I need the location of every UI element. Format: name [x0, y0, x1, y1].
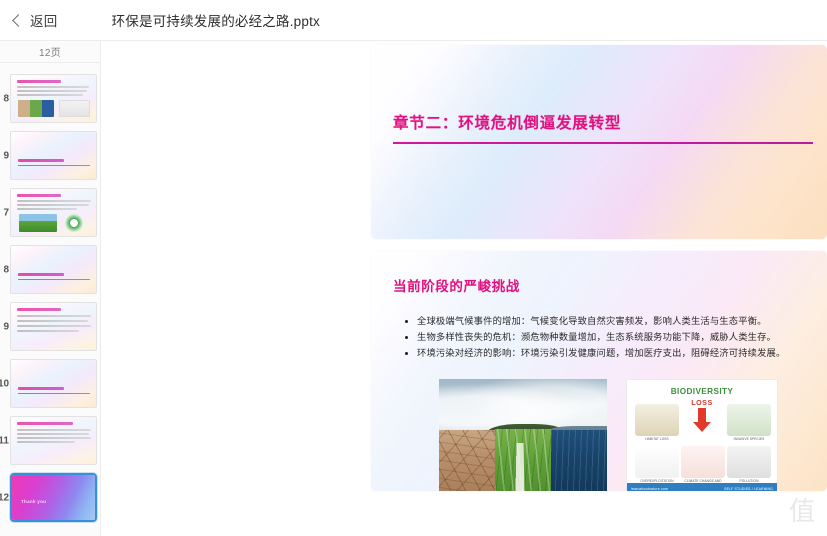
thumbnail-text-line: [17, 320, 88, 322]
chevron-left-icon: [12, 14, 25, 27]
photo-ocean-panel: [551, 430, 607, 491]
thumbnail-number: 8: [0, 93, 9, 104]
page-count-bar: 12页: [0, 41, 100, 63]
watermark: 值: [789, 491, 815, 528]
thumbnail-row[interactable]: 9: [0, 298, 100, 355]
thumbnail-slide-content[interactable]: [10, 302, 97, 351]
drought-farmland-ocean-photo: [439, 379, 607, 491]
thumbnail-section-title: [18, 159, 64, 162]
top-bar: 返回 环保是可持续发展的必经之路.pptx: [0, 0, 827, 41]
thumbnail-text-line: [17, 208, 77, 210]
thumbnail-row[interactable]: 7: [0, 184, 100, 241]
thumbnail-number: 11: [0, 435, 9, 446]
thumbnail-section-rule: [18, 279, 90, 280]
thumbnail-list[interactable]: 8 9 7: [0, 63, 100, 526]
thumbnail-background: [12, 475, 95, 520]
thumbnail-text-line: [17, 204, 89, 206]
thumbnail-sidebar[interactable]: 12页 8 9 7: [0, 41, 101, 536]
file-title: 环保是可持续发展的必经之路.pptx: [112, 10, 320, 30]
thumbnail-slide-section[interactable]: [10, 131, 97, 180]
infographic-cell-overexploitation: [635, 446, 679, 478]
thumbnail-section-title: [18, 273, 64, 276]
thumbnail-section-title: [18, 387, 64, 390]
slide-section-title[interactable]: 章节二：环境危机倒逼发展转型: [371, 45, 827, 239]
thumbnail-section-rule: [18, 165, 90, 166]
thumbnail-number: 10: [0, 378, 9, 389]
infographic-title: BIODIVERSITY: [627, 387, 777, 396]
slide-viewer[interactable]: 章节二：环境危机倒逼发展转型 当前阶段的严峻挑战 全球极端气候事件的增加：气候变…: [101, 41, 827, 536]
thumbnail-image: [19, 214, 57, 232]
thumbnail-text-line: [17, 429, 91, 431]
thumbnail-row[interactable]: 8: [0, 70, 100, 127]
thumbnail-slide-content[interactable]: [10, 74, 97, 123]
infographic-caption: HABITAT LOSS: [634, 437, 680, 441]
thumbnail-image: [18, 100, 54, 117]
thumbnail-text-line: [17, 200, 91, 202]
thumbnail-row[interactable]: 10: [0, 355, 100, 412]
slide-gap: [371, 239, 827, 251]
bullet-item: 生物多样性丧失的危机：濒危物种数量增加，生态系统服务功能下降，威胁人类生存。: [404, 329, 811, 345]
slide-stack: 章节二：环境危机倒逼发展转型 当前阶段的严峻挑战 全球极端气候事件的增加：气候变…: [371, 45, 827, 491]
thumbnail-background: [11, 360, 96, 407]
back-button[interactable]: 返回: [8, 6, 64, 34]
page-count-label: 12页: [39, 44, 61, 59]
thumbnail-background: [11, 132, 96, 179]
thumbnail-row[interactable]: 8: [0, 241, 100, 298]
slide-content[interactable]: 当前阶段的严峻挑战 全球极端气候事件的增加：气候变化导致自然灾害频发，影响人类生…: [371, 251, 827, 491]
infographic-cell-invasive: [727, 404, 771, 436]
thumbnail-text-line: [17, 325, 91, 327]
thumbnail-text-line: [17, 86, 89, 88]
thumbnail-text-line: [17, 90, 87, 92]
infographic-footer-left: learnaboutnature.com: [631, 487, 668, 491]
photo-drought-panel: [439, 430, 495, 491]
content-media-row: BIODIVERSITY LOSS HABITAT LOSS INVASIVE …: [439, 379, 778, 491]
thumbnail-number: 7: [0, 207, 9, 218]
infographic-cell-habitat: [635, 404, 679, 436]
thumbnail-slide-section[interactable]: [10, 359, 97, 408]
content-heading: 当前阶段的严峻挑战: [393, 275, 520, 295]
section-title-block: 章节二：环境危机倒逼发展转型: [393, 111, 813, 144]
thumbnail-background: [11, 246, 96, 293]
thumbnail-slide-thanks-selected[interactable]: Thank you: [10, 473, 97, 522]
thumbnail-heading-bar: [17, 308, 61, 311]
infographic-cell-climate-change: [681, 446, 725, 478]
biodiversity-loss-infographic: BIODIVERSITY LOSS HABITAT LOSS INVASIVE …: [626, 379, 778, 491]
thumbnail-text-line: [17, 315, 91, 317]
thumbnail-slide-content[interactable]: [10, 188, 97, 237]
thumbnail-row[interactable]: 12 Thank you: [0, 469, 100, 526]
section-title-underline: [393, 142, 813, 144]
thumbnail-number: 12: [0, 492, 9, 503]
thumbnail-thanks-text: Thank you: [21, 499, 46, 504]
thumbnail-image: [65, 214, 83, 232]
thumbnail-slide-content[interactable]: [10, 416, 97, 465]
bullet-item: 全球极端气候事件的增加：气候变化导致自然灾害频发，影响人类生活与生态平衡。: [404, 313, 811, 329]
thumbnail-text-line: [17, 433, 89, 435]
thumbnail-heading-bar: [17, 422, 73, 425]
infographic-cell-pollution: [727, 446, 771, 478]
thumbnail-image: [59, 100, 90, 117]
thumbnail-heading-bar: [17, 194, 61, 197]
thumbnail-section-rule: [18, 393, 90, 394]
back-button-label: 返回: [30, 10, 58, 30]
thumbnail-text-line: [17, 441, 75, 443]
infographic-caption: INVASIVE SPECIES: [726, 437, 772, 441]
thumbnail-text-line: [17, 437, 91, 439]
thumbnail-slide-section[interactable]: [10, 245, 97, 294]
photo-field-path: [516, 443, 526, 491]
infographic-footer: learnaboutnature.com SELF STUDIES / LEAR…: [627, 483, 777, 491]
infographic-footer-right: SELF STUDIES / LEARNING: [724, 487, 773, 491]
thumbnail-row[interactable]: 11: [0, 412, 100, 469]
thumbnail-number: 9: [0, 150, 9, 161]
thumbnail-heading-bar: [17, 80, 61, 83]
section-title-text: 章节二：环境危机倒逼发展转型: [393, 111, 813, 133]
thumbnail-row[interactable]: 9: [0, 127, 100, 184]
bullet-item: 环境污染对经济的影响：环境污染引发健康问题，增加医疗支出，阻碍经济可持续发展。: [404, 345, 811, 361]
thumbnail-text-line: [17, 330, 79, 332]
thumbnail-number: 8: [0, 264, 9, 275]
content-bullet-list: 全球极端气候事件的增加：气候变化导致自然灾害频发，影响人类生活与生态平衡。 生物…: [404, 313, 811, 361]
thumbnail-text-line: [17, 94, 83, 96]
thumbnail-number: 9: [0, 321, 9, 332]
